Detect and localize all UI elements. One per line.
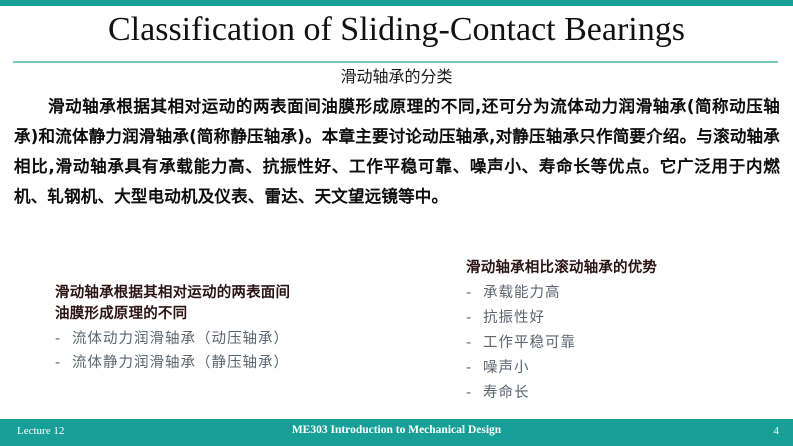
bullet-dash-icon: - (466, 331, 483, 356)
list-item-label: 流体动力润滑轴承（动压轴承） (72, 331, 289, 347)
left-content-column: 滑动轴承根据其相对运动的两表面间 油膜形成原理的不同 -流体动力润滑轴承（动压轴… (55, 283, 445, 375)
bullet-dash-icon: - (466, 306, 483, 331)
left-column-heading-line-2: 油膜形成原理的不同 (55, 304, 445, 325)
list-item-label: 工作平稳可靠 (483, 335, 576, 351)
bullet-dash-icon: - (55, 327, 72, 351)
list-item: -流体静力润滑轴承（静压轴承） (55, 351, 445, 375)
left-bullet-list: -流体动力润滑轴承（动压轴承） -流体静力润滑轴承（静压轴承） (55, 327, 445, 375)
list-item: -流体动力润滑轴承（动压轴承） (55, 327, 445, 351)
left-column-heading-line-1: 滑动轴承根据其相对运动的两表面间 (55, 283, 445, 304)
bullet-dash-icon: - (55, 351, 72, 375)
list-item-label: 噪声小 (483, 360, 530, 376)
page-title: Classification of Sliding-Contact Bearin… (0, 8, 793, 52)
list-item-label: 流体静力润滑轴承（静压轴承） (72, 355, 289, 371)
footer-course-title: ME303 Introduction to Mechanical Design (0, 424, 793, 436)
bullet-dash-icon: - (466, 356, 483, 381)
right-column-heading: 滑动轴承相比滚动轴承的优势 (466, 258, 786, 279)
list-item-label: 寿命长 (483, 385, 530, 401)
right-bullet-list: -承载能力高 -抗振性好 -工作平稳可靠 -噪声小 -寿命长 (466, 281, 786, 406)
right-content-column: 滑动轴承相比滚动轴承的优势 -承载能力高 -抗振性好 -工作平稳可靠 -噪声小 … (466, 258, 786, 406)
title-divider-rule (13, 61, 778, 63)
top-accent-bar (0, 0, 793, 6)
list-item: -工作平稳可靠 (466, 331, 786, 356)
left-column-heading: 滑动轴承根据其相对运动的两表面间 油膜形成原理的不同 (55, 283, 445, 325)
list-item-label: 承载能力高 (483, 285, 561, 301)
bullet-dash-icon: - (466, 381, 483, 406)
bullet-dash-icon: - (466, 281, 483, 306)
footer-page-number: 4 (774, 425, 780, 437)
list-item: -噪声小 (466, 356, 786, 381)
list-item: -抗振性好 (466, 306, 786, 331)
slide-canvas: Classification of Sliding-Contact Bearin… (0, 0, 793, 446)
list-item: -寿命长 (466, 381, 786, 406)
page-subtitle: 滑动轴承的分类 (0, 64, 793, 90)
list-item: -承载能力高 (466, 281, 786, 306)
list-item-label: 抗振性好 (483, 310, 545, 326)
body-paragraph: 滑动轴承根据其相对运动的两表面间油膜形成原理的不同,还可分为流体动力润滑轴承(简… (14, 92, 780, 212)
slide-footer-bar: Lecture 12 ME303 Introduction to Mechani… (0, 419, 793, 446)
